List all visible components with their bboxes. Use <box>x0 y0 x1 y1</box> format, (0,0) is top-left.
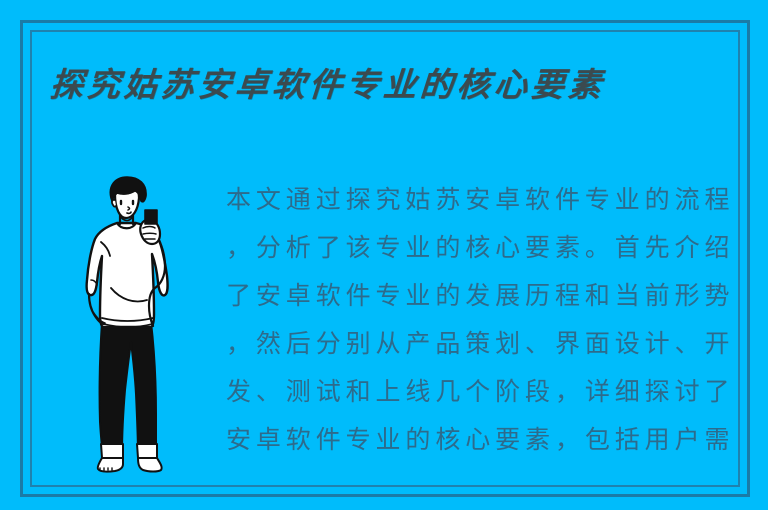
body-line: ，然后分别从产品策划、界面设计、开 <box>226 320 731 368</box>
article-body: 本文通过探究姑苏安卓软件专业的流程 ，分析了该专业的核心要素。首先介绍 了安卓软… <box>226 176 731 464</box>
body-line: 发、测试和上线几个阶段，详细探讨了 <box>226 368 731 416</box>
article-banner: 探究姑苏安卓软件专业的核心要素 <box>0 0 768 510</box>
body-line: 安卓软件专业的核心要素，包括用户需 <box>226 416 731 464</box>
body-line: ，分析了该专业的核心要素。首先介绍 <box>226 224 731 272</box>
body-line: 了安卓软件专业的发展历程和当前形势 <box>226 272 731 320</box>
body-line: 本文通过探究姑苏安卓软件专业的流程 <box>226 176 731 224</box>
page-title: 探究姑苏安卓软件专业的核心要素 <box>48 56 728 116</box>
illustration-standing-man <box>75 176 195 476</box>
